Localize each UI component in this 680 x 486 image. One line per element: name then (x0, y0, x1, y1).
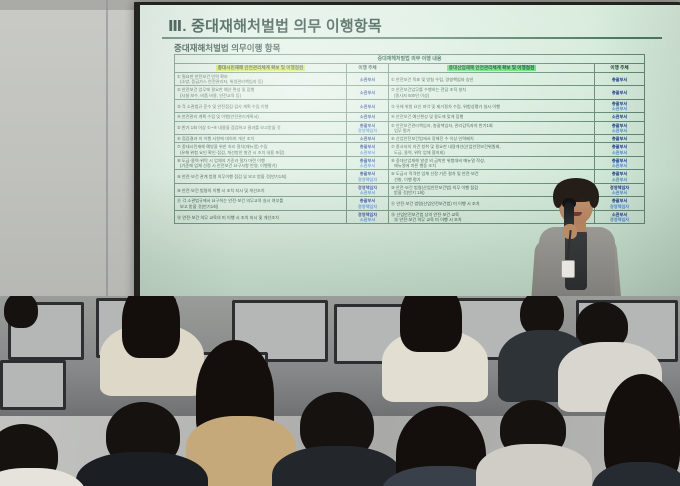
row-left-item-text: ④ 안전관리 계획 수립 및 이행(안전관리계획서) (177, 114, 259, 119)
row-right-item-text: ② 안전보건업무를 수행하는 전담 조직 설치 (391, 87, 466, 92)
table-span-header-row: 중대재해처벌법 의무 이행 내용 (175, 55, 645, 64)
table-row: ⑥ 점검결과 미 이행 사항에 대하여 개선 조치소관부서⑥ 산업안전보건법에서… (175, 135, 645, 143)
row-right-item-text: ⑪ 안전·보건 법령(산업안전보건법) 미 이행 시 조치 (391, 201, 480, 206)
row-right-owner: 총괄부서소관부서 (595, 143, 645, 157)
row-left-item-subtext: 보고 받을 것(반기1회) (177, 204, 344, 209)
audience-shoulders (272, 446, 402, 486)
row-left-item: ⑩ 안전·보건 법령의 이행 시 조치 지시 및 개선조치 (175, 183, 347, 197)
row-left-owner-secondary: 경영책임자 (349, 204, 386, 209)
row-left-owner: 소관부서 (347, 113, 389, 121)
row-right-owner-secondary: 소관부서 (597, 150, 642, 155)
row-left-item: ① 필요한 안전보건 인력 확보(소방, 응급가스 안전관리자, 위생관리책임자… (175, 72, 347, 86)
presenter-eye-right (580, 199, 586, 201)
row-right-owner: 소관부서 (595, 113, 645, 121)
row-right-item: ⑥ 산업안전보건법에서 정해진 수 이상 인력배치 (389, 135, 595, 143)
table-row: ③ 각 소관법규 준수 및 안전점검·검사 계획 수립 이행소관부서③ 유해 위… (175, 99, 645, 113)
row-right-owner-secondary: 소관부서 (597, 106, 642, 111)
row-right-owner: 총괄부서 (595, 86, 645, 100)
row-left-owner: 총괄부서소관부서 (347, 156, 389, 170)
slide-subtitle: 중대재해처벌법 의무이행 항목 (174, 42, 280, 54)
row-left-item-subtext: (시설 보수, 비품 비용, 안전교육 등) (177, 93, 344, 98)
row-left-item: ② 안전보건 업무에 필요한 예산 편성 및 집행(시설 보수, 비품 비용, … (175, 86, 347, 100)
row-left-owner: 총괄부서경영책임자 (347, 197, 389, 211)
table-row: ⑧ 도급·용역·위탁 시 업체의 기준과 절차 마련 이행(기준에 업체 선정 … (175, 156, 645, 170)
row-left-owner: 소관부서 (347, 86, 389, 100)
row-right-owner-primary: 총괄부서 (612, 171, 627, 176)
row-left-owner-secondary: 소관부서 (349, 150, 386, 155)
audience-head (4, 296, 38, 328)
row-left-owner-secondary: 소관부서 (349, 217, 386, 222)
row-left-owner-secondary: 경영책임자 (349, 128, 386, 133)
row-right-item-text: ⑥ 산업안전보건법에서 정해진 수 이상 인력배치 (391, 136, 474, 141)
row-left-item-text: ⑫ 안전·보건 의무 교육의 미 이행 시 조치 지시 및 개선조치 (177, 215, 279, 220)
row-right-item: ⑦ 종사자의 의견 청취 및 필요한 내용개선(산업안전보건위원회,도급, 용역… (389, 143, 595, 157)
row-left-item-text: ⑪ 각 소관법규에서 요구하는 안전·보건 의무교육 실시 여부를 (177, 198, 283, 203)
audience-shoulders (0, 468, 86, 486)
slide-title: Ⅲ. 중대재해처벌법 의무 이행항목 (168, 15, 382, 36)
lecture-hall-photo: Ⅲ. 중대재해처벌법 의무 이행항목 중대재해처벌법 의무이행 항목 중대재해처… (0, 0, 680, 486)
row-left-item: ⑫ 안전·보건 의무 교육의 미 이행 시 조치 지시 및 개선조치 (175, 210, 347, 224)
row-left-item-text: ③ 각 소관법규 준수 및 안전점검·검사 계획 수립 이행 (177, 104, 269, 109)
row-right-owner-primary: 소관부서 (612, 114, 627, 119)
row-left-owner: 경영책임자소관부서 (347, 210, 389, 224)
row-right-owner: 총괄부서 (595, 135, 645, 143)
table-row: ② 안전보건 업무에 필요한 예산 편성 및 집행(시설 보수, 비품 비용, … (175, 86, 645, 100)
row-left-item-subtext: (소방, 응급가스 안전관리자, 위생관리책임자 등) (177, 79, 344, 84)
audience-hair (122, 296, 180, 358)
row-left-item: ⑧ 도급·용역·위탁 시 업체의 기준과 절차 마련 이행(기준에 업체 선정 … (175, 156, 347, 170)
wall-seam (106, 0, 108, 330)
row-right-owner-primary: 총괄부서 (612, 144, 627, 149)
row-right-item: ② 안전보건업무를 수행하는 전담 조직 설치(종사자 500인 이상) (389, 86, 595, 100)
row-left-item-text: ⑥ 점검결과 미 이행 사항에 대하여 개선 조치 (177, 136, 254, 141)
row-left-item: ⑦ 중대시민재해 예방을 위한 처리 절차(매뉴얼) 수립(유해 위험 요인 확… (175, 143, 347, 157)
row-left-owner: 총괄부서소관부서 (347, 143, 389, 157)
title-underline (162, 37, 662, 39)
row-left-owner-primary: 총괄부서 (360, 198, 375, 203)
row-left-owner: 총괄부서경영책임자 (347, 170, 389, 184)
row-right-item-subtext: (종사자 500인 이상) (391, 93, 592, 98)
row-right-owner-primary: 총괄부서 (612, 136, 627, 141)
header-left-category: 중대시민재해 안전관리체계 확보 및 이행점검 (175, 64, 347, 73)
row-right-item-subtext: 도급, 용역, 위탁 업체 협의회) (391, 150, 592, 155)
table-row: ① 필요한 안전보건 인력 확보(소방, 응급가스 안전관리자, 위생관리책임자… (175, 72, 645, 86)
row-left-owner-primary: 총괄부서 (360, 123, 375, 128)
row-right-item: ⑧ 중대산업재해 발생 외 급박한 위험대비 매뉴얼 작성,매뉴얼에 따른 행동… (389, 156, 595, 170)
audience-shoulders (476, 444, 592, 486)
row-left-item-text: ⑩ 안전·보건 법령의 이행 시 조치 지시 및 개선조치 (177, 188, 265, 193)
row-right-owner-primary: 총괄부서 (612, 123, 627, 128)
header-left-category-text: 중대시민재해 안전관리체계 확보 및 이행점검 (216, 65, 305, 71)
audience-hair (400, 296, 462, 352)
table-span-header: 중대재해처벌법 의무 이행 내용 (175, 55, 645, 64)
row-right-item: ⑤ 안전보건관리책임자, 총괄책임자, 관리감독자의 반기1회업무 평가 (389, 121, 595, 135)
header-right-category: 중대산업재해 안전관리체계 확보 및 이행점검 (389, 64, 595, 73)
row-right-item-text: ③ 유해 위험 요인 파악 및 제거절차 수립, 위험성평가 실시 이행 (391, 104, 500, 109)
row-right-item-text: ① 안전보건 목표 및 방침 수립, 경영책임자 승인 (391, 77, 473, 82)
id-badge (561, 260, 575, 278)
row-right-owner-secondary: 소관부서 (597, 163, 642, 168)
row-right-item-subtext: 매뉴얼에 따른 행동 조치 (391, 163, 592, 168)
row-left-item-text: ⑦ 중대시민재해 예방을 위한 처리 절차(매뉴얼) 수립 (177, 144, 268, 149)
header-left-owner: 이행 주체 (347, 64, 389, 73)
row-left-item: ④ 안전관리 계획 수립 및 이행(안전관리계획서) (175, 113, 347, 121)
row-right-owner-primary: 총괄부서 (612, 77, 627, 82)
row-left-owner: 소관부서 (347, 99, 389, 113)
row-right-owner-secondary: 소관부서 (597, 128, 642, 133)
row-left-owner: 소관부서 (347, 72, 389, 86)
row-right-owner: 총괄부서소관부서 (595, 156, 645, 170)
row-left-owner-secondary: 소관부서 (349, 163, 386, 168)
row-right-item-text: ⑦ 종사자의 의견 청취 및 필요한 내용개선(산업안전보건위원회, (391, 144, 501, 149)
row-left-item: ③ 각 소관법규 준수 및 안전점검·검사 계획 수립 이행 (175, 99, 347, 113)
row-left-owner-primary: 소관부서 (360, 136, 375, 141)
row-left-owner-primary: 소관부서 (360, 77, 375, 82)
presenter-hair-right (589, 186, 599, 208)
row-right-item-text: ⑨ 도급시 적격한 업체 선정 기준 절차 및 안전·보건 (391, 171, 479, 176)
audience-area (0, 296, 680, 486)
row-left-owner-primary: 총괄부서 (360, 144, 375, 149)
row-right-item: ④ 안전보건 예산편성 및 용도에 맞게 집행 (389, 113, 595, 121)
row-right-item-text: ⑤ 안전보건관리책임자, 총괄책임자, 관리감독자의 반기1회 (391, 123, 493, 128)
row-right-owner-primary: 총괄부서 (612, 90, 627, 95)
row-left-item-text: ⑨ 안전·보건 관계 법령 의무이행 점검 및 보고 받을 것(반기1회) (177, 174, 286, 179)
row-left-owner-secondary: 경영책임자 (349, 177, 386, 182)
row-right-owner: 총괄부서 (595, 72, 645, 86)
header-right-category-text: 중대산업재해 안전관리체계 확보 및 이행점검 (447, 65, 536, 71)
row-left-owner: 소관부서 (347, 135, 389, 143)
row-left-owner: 총괄부서경영책임자 (347, 121, 389, 135)
row-right-item: ③ 유해 위험 요인 파악 및 제거절차 수립, 위험성평가 실시 이행 (389, 99, 595, 113)
table-header-row: 중대시민재해 안전관리체계 확보 및 이행점검 이행 주체 중대산업재해 안전관… (175, 64, 645, 73)
row-left-item-subtext: (기준에 업체 선정 시 안전보건 요구사항 반영, 이행평가) (177, 163, 344, 168)
row-right-owner: 총괄부서소관부서 (595, 121, 645, 135)
row-left-item: ⑨ 안전·보건 관계 법령 의무이행 점검 및 보고 받을 것(반기1회) (175, 170, 347, 184)
row-left-item-subtext: (유해 위험 요인 확인·점검, 개선방안 발견 시 조치 내용 포함) (177, 150, 344, 155)
row-left-item: ⑪ 각 소관법규에서 요구하는 안전·보건 의무교육 실시 여부를보고 받을 것… (175, 197, 347, 211)
chair-back (0, 360, 66, 410)
row-right-item: ① 안전보건 목표 및 방침 수립, 경영책임자 승인 (389, 72, 595, 86)
row-right-item-text: ④ 안전보건 예산편성 및 용도에 맞게 집행 (391, 114, 463, 119)
header-right-owner: 이행 주체 (595, 64, 645, 73)
row-left-owner-secondary: 소관부서 (349, 190, 386, 195)
row-left-owner: 경영책임자소관부서 (347, 183, 389, 197)
row-left-owner-primary: 소관부서 (360, 104, 375, 109)
table-row: ⑤ 반기 1회 이상 ①~④ 내용을 점검하고 결과를 보고받을 것총괄부서경영… (175, 121, 645, 135)
row-left-owner-primary: 소관부서 (360, 114, 375, 119)
row-right-owner: 총괄부서소관부서 (595, 99, 645, 113)
row-left-owner-primary: 총괄부서 (360, 171, 375, 176)
wall-left-panel (0, 0, 140, 340)
table-row: ④ 안전관리 계획 수립 및 이행(안전관리계획서)소관부서④ 안전보건 예산편… (175, 113, 645, 121)
row-left-item-text: ⑤ 반기 1회 이상 ①~④ 내용을 점검하고 결과를 보고받을 것 (177, 125, 281, 130)
row-left-owner-primary: 소관부서 (360, 90, 375, 95)
row-left-item: ⑥ 점검결과 미 이행 사항에 대하여 개선 조치 (175, 135, 347, 143)
table-row: ⑦ 중대시민재해 예방을 위한 처리 절차(매뉴얼) 수립(유해 위험 요인 확… (175, 143, 645, 157)
row-left-item-text: ② 안전보건 업무에 필요한 예산 편성 및 집행 (177, 87, 254, 92)
row-right-item-subtext: 업무 평가 (391, 128, 592, 133)
row-left-item: ⑤ 반기 1회 이상 ①~④ 내용을 점검하고 결과를 보고받을 것 (175, 121, 347, 135)
